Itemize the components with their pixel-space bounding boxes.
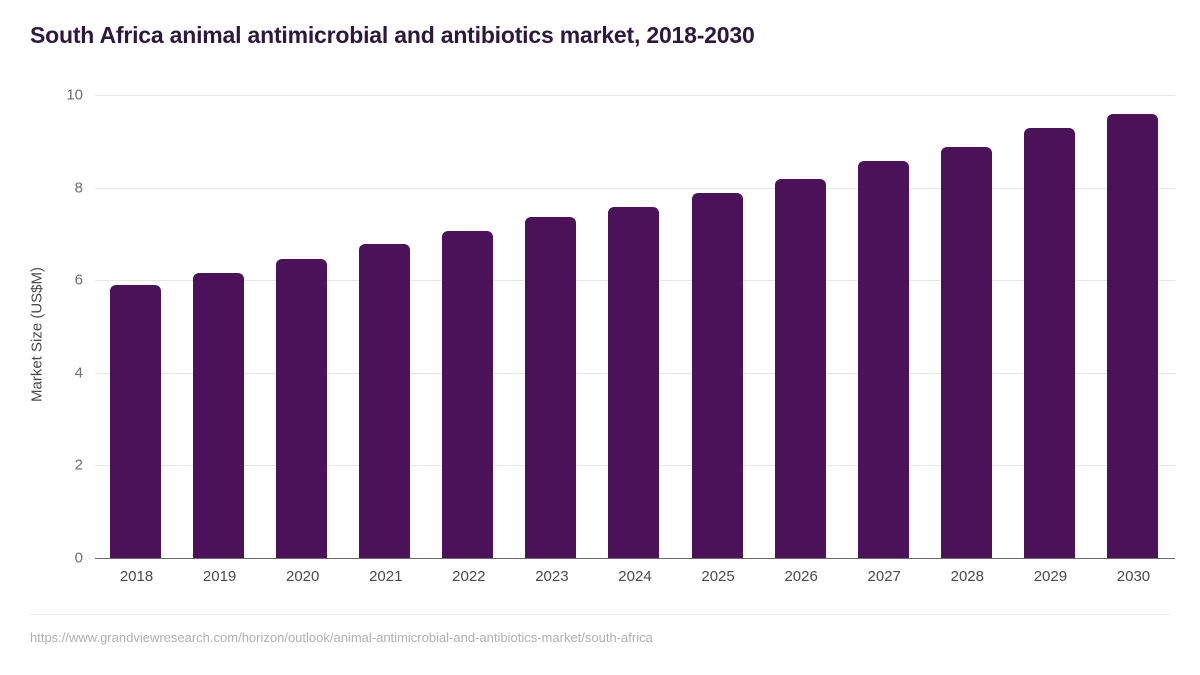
bar-slot: [95, 95, 178, 558]
x-tick-label-2028: 2028: [926, 568, 1009, 585]
source-url[interactable]: https://www.grandviewresearch.com/horizo…: [30, 630, 653, 645]
y-axis-ticks: 0246810: [35, 95, 83, 558]
bar-slot: [178, 95, 261, 558]
y-tick-label: 10: [43, 87, 83, 104]
bar-slot: [677, 95, 760, 558]
bar-slot: [760, 95, 843, 558]
y-tick-label: 0: [43, 550, 83, 567]
bar-2030[interactable]: [1107, 114, 1158, 558]
bar-2023[interactable]: [525, 217, 576, 558]
bar-2026[interactable]: [775, 179, 826, 558]
chart-card: South Africa animal antimicrobial and an…: [0, 0, 1200, 675]
bar-2022[interactable]: [442, 231, 493, 558]
footer-divider: [30, 614, 1170, 615]
bar-2019[interactable]: [193, 273, 244, 558]
bar-slot: [427, 95, 510, 558]
bar-slot: [261, 95, 344, 558]
bar-2027[interactable]: [858, 161, 909, 558]
x-axis-line: [95, 558, 1175, 559]
x-tick-label-2024: 2024: [593, 568, 676, 585]
y-tick-label: 2: [43, 457, 83, 474]
bar-slot: [510, 95, 593, 558]
bar-slot: [593, 95, 676, 558]
x-tick-label-2023: 2023: [510, 568, 593, 585]
bar-2029[interactable]: [1024, 128, 1075, 558]
bar-slot: [344, 95, 427, 558]
plot-area: [95, 95, 1175, 558]
page-title: South Africa animal antimicrobial and an…: [30, 22, 755, 49]
bar-slot: [1092, 95, 1175, 558]
y-tick-label: 6: [43, 272, 83, 289]
x-tick-label-2030: 2030: [1092, 568, 1175, 585]
x-tick-label-2029: 2029: [1009, 568, 1092, 585]
bar-slot: [926, 95, 1009, 558]
x-tick-label-2019: 2019: [178, 568, 261, 585]
x-tick-label-2022: 2022: [427, 568, 510, 585]
x-tick-label-2026: 2026: [760, 568, 843, 585]
x-tick-label-2018: 2018: [95, 568, 178, 585]
y-tick-label: 8: [43, 179, 83, 196]
bar-2028[interactable]: [941, 147, 992, 558]
y-tick-label: 4: [43, 364, 83, 381]
bar-slot: [1009, 95, 1092, 558]
x-tick-label-2025: 2025: [677, 568, 760, 585]
bar-slot: [843, 95, 926, 558]
bar-2018[interactable]: [110, 285, 161, 558]
x-tick-label-2027: 2027: [843, 568, 926, 585]
bar-2024[interactable]: [608, 207, 659, 558]
x-tick-label-2021: 2021: [344, 568, 427, 585]
bar-2020[interactable]: [276, 259, 327, 558]
x-axis-ticks: 2018201920202021202220232024202520262027…: [95, 568, 1175, 596]
x-tick-label-2020: 2020: [261, 568, 344, 585]
bar-2025[interactable]: [692, 193, 743, 558]
bar-2021[interactable]: [359, 244, 410, 558]
